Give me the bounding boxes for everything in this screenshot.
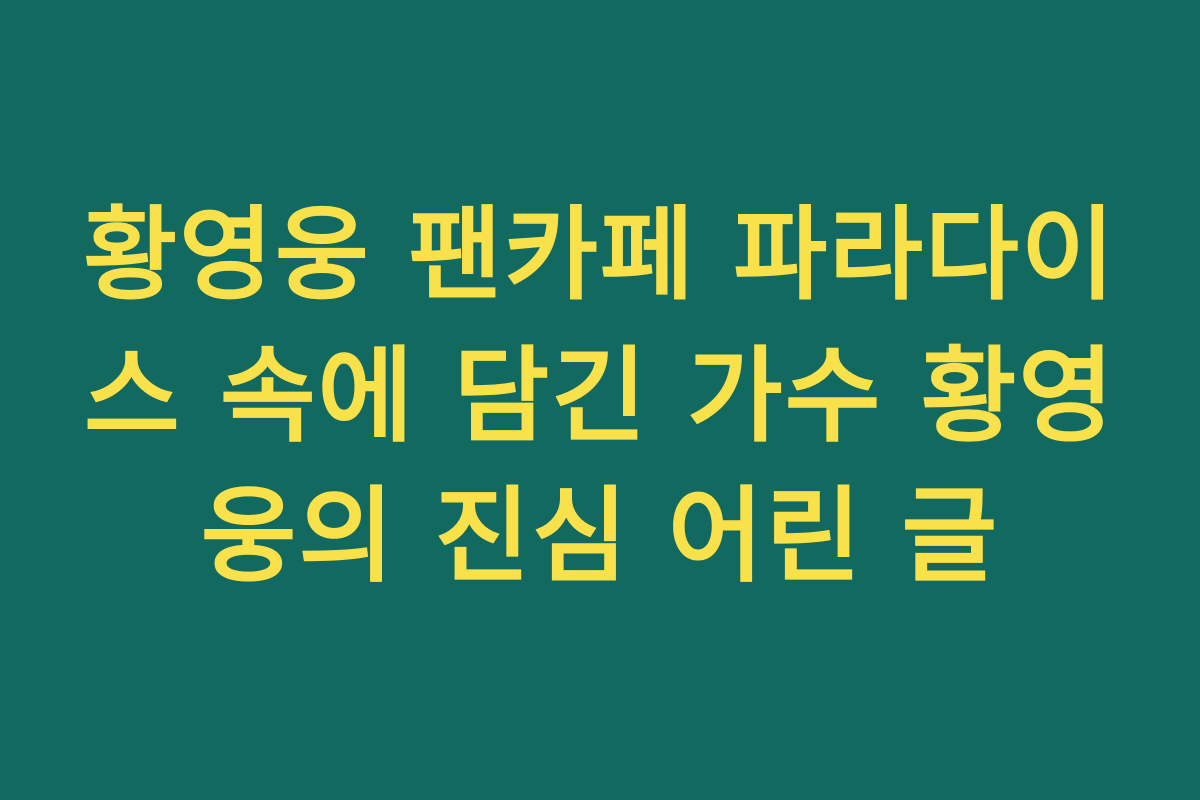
thumbnail-canvas: 황영웅 팬카페 파라다이 스 속에 담긴 가수 황영 웅의 진심 어린 글	[0, 0, 1200, 800]
headline-text-block: 황영웅 팬카페 파라다이 스 속에 담긴 가수 황영 웅의 진심 어린 글	[80, 186, 1120, 606]
headline-line-3: 웅의 진심 어린 글	[80, 466, 1120, 606]
headline-line-2: 스 속에 담긴 가수 황영	[80, 326, 1120, 466]
headline-line-1: 황영웅 팬카페 파라다이	[80, 186, 1120, 326]
